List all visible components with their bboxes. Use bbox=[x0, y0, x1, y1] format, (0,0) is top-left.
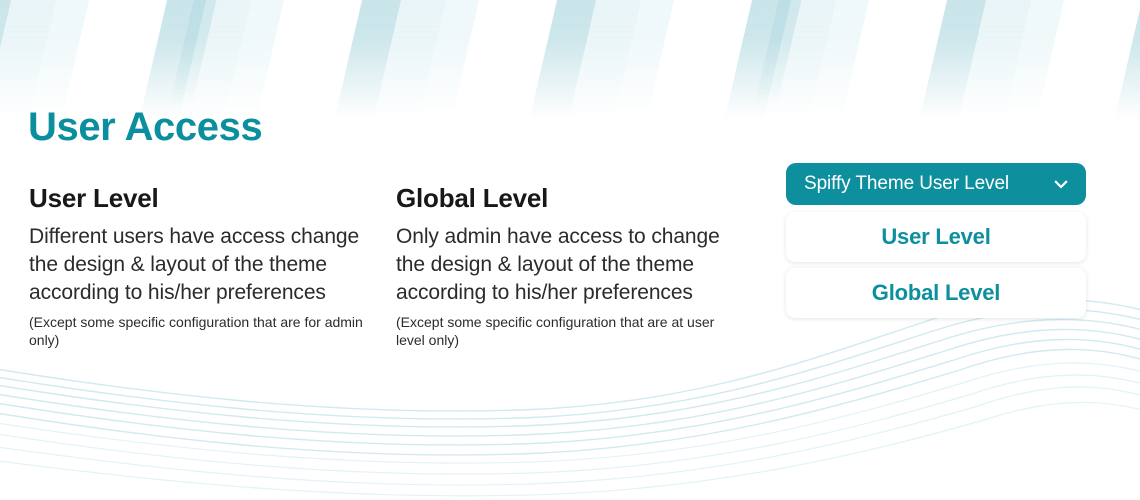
column-heading-user-level: User Level bbox=[29, 183, 374, 214]
user-level-dropdown: Spiffy Theme User Level User Level Globa… bbox=[786, 163, 1086, 318]
dropdown-option-user-level[interactable]: User Level bbox=[786, 212, 1086, 262]
column-user-level: User Level Different users have access c… bbox=[29, 183, 374, 349]
column-global-level: Global Level Only admin have access to c… bbox=[396, 183, 741, 349]
column-heading-global-level: Global Level bbox=[396, 183, 741, 214]
dropdown-selected-label: Spiffy Theme User Level bbox=[804, 173, 1009, 195]
page-title: User Access bbox=[28, 105, 262, 149]
slide-canvas: User Access User Level Different users h… bbox=[0, 0, 1140, 500]
column-note-global-level: (Except some specific configuration that… bbox=[396, 313, 741, 349]
dropdown-option-global-level[interactable]: Global Level bbox=[786, 268, 1086, 318]
diagonal-stripes-decoration bbox=[0, 0, 1140, 120]
column-body-global-level: Only admin have access to change the des… bbox=[396, 223, 741, 307]
chevron-down-icon bbox=[1052, 175, 1070, 193]
column-body-user-level: Different users have access change the d… bbox=[29, 223, 374, 307]
dropdown-toggle-button[interactable]: Spiffy Theme User Level bbox=[786, 163, 1086, 205]
diagonal-stripes-accent-decoration bbox=[0, 0, 1140, 105]
dropdown-menu: User Level Global Level bbox=[786, 212, 1086, 318]
column-note-user-level: (Except some specific configuration that… bbox=[29, 313, 374, 349]
